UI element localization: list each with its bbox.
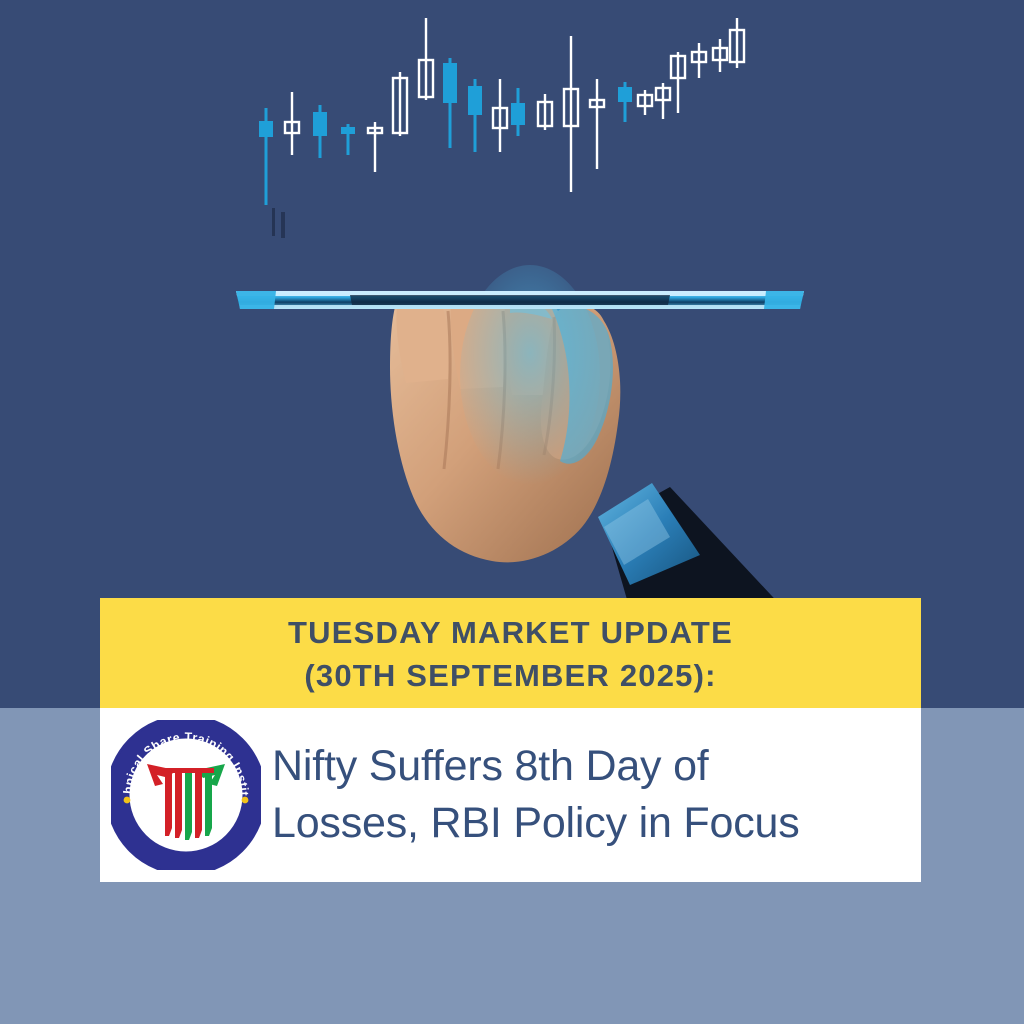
update-banner: TUESDAY MARKET UPDATE (30TH SEPTEMBER 20… — [100, 598, 921, 708]
candlestick-7 — [443, 58, 457, 148]
headline-line-1: Nifty Suffers 8th Day of — [272, 738, 800, 795]
candlestick-18 — [692, 43, 706, 78]
candlestick-0 — [259, 108, 273, 205]
candlestick-8 — [468, 79, 482, 152]
candlestick-chart — [0, 0, 1024, 250]
candlestick-20 — [730, 18, 744, 68]
candlestick-11 — [538, 94, 552, 130]
institute-logo-icon: Technical Share Training Institute ESTD.… — [111, 720, 261, 870]
candlestick-6 — [419, 18, 433, 100]
candlestick-4 — [368, 122, 382, 172]
candlestick-19 — [713, 39, 727, 72]
logo-container: Technical Share Training Institute ESTD.… — [100, 708, 272, 882]
candlestick-17 — [671, 52, 685, 113]
candlestick-12 — [564, 36, 578, 192]
candlestick-15 — [638, 90, 652, 115]
banner-line-2: (30TH SEPTEMBER 2025): — [304, 655, 716, 698]
candlestick-14 — [618, 82, 632, 122]
candlestick-10 — [511, 88, 525, 136]
headline-card: Technical Share Training Institute ESTD.… — [100, 708, 921, 882]
headline-line-2: Losses, RBI Policy in Focus — [272, 795, 800, 852]
market-update-poster: TUESDAY MARKET UPDATE (30TH SEPTEMBER 20… — [0, 0, 1024, 1024]
banner-line-1: TUESDAY MARKET UPDATE — [288, 612, 733, 655]
candlestick-5 — [393, 72, 407, 136]
candlestick-1 — [285, 92, 299, 155]
candlestick-13 — [590, 79, 604, 169]
candlestick-16 — [656, 83, 670, 119]
headline-text: Nifty Suffers 8th Day of Losses, RBI Pol… — [272, 738, 816, 852]
candlestick-2 — [313, 105, 327, 158]
candlestick-9 — [493, 79, 507, 152]
hand-holding-glass-tablet — [200, 255, 840, 610]
candlestick-3 — [341, 124, 355, 155]
